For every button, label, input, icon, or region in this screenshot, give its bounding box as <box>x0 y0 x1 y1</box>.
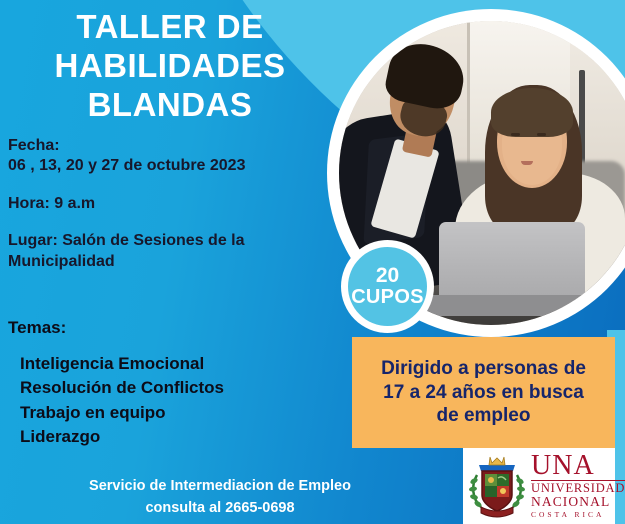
headline-line-2: HABILIDADES <box>10 47 330 86</box>
footer-contact: Servicio de Intermediacion de Empleo con… <box>0 476 440 520</box>
callout-line-1: Dirigido a personas de <box>381 357 586 381</box>
topics-section: Temas: Inteligencia Emocional Resolución… <box>8 318 338 450</box>
topic-item: Trabajo en equipo <box>20 401 338 425</box>
cupos-label: CUPOS <box>351 287 424 308</box>
audience-callout-text: Dirigido a personas de 17 a 24 años en b… <box>371 357 596 428</box>
woman-hair-front <box>491 88 573 137</box>
date-group: Fecha: 06 , 13, 20 y 27 de octubre 2023 <box>8 136 330 177</box>
date-value: 06 , 13, 20 y 27 de octubre 2023 <box>8 156 330 176</box>
cupos-number: 20 <box>376 265 399 287</box>
audience-callout: Dirigido a personas de 17 a 24 años en b… <box>352 337 615 448</box>
una-acronym: UNA <box>531 453 625 480</box>
municipal-coat-of-arms-icon <box>467 451 527 521</box>
place-line-1: Lugar: Salón de Sesiones de la <box>8 231 330 251</box>
laptop-base <box>427 295 600 316</box>
footer-line-1: Servicio de Intermediacion de Empleo <box>0 476 440 498</box>
una-costa-rica: COSTA RICA <box>531 510 625 519</box>
headline-line-3: BLANDAS <box>10 86 330 125</box>
footer-line-2: consulta al 2665-0698 <box>0 498 440 520</box>
callout-line-2: 17 a 24 años en busca <box>381 381 586 405</box>
time-value: Hora: 9 a.m <box>8 194 330 214</box>
event-details: Fecha: 06 , 13, 20 y 27 de octubre 2023 … <box>8 136 330 272</box>
una-nacional: NACIONAL <box>531 495 625 509</box>
topic-item: Resolución de Conflictos <box>20 376 338 400</box>
topics-title: Temas: <box>8 318 338 338</box>
cupos-badge-inner: 20 CUPOS <box>348 247 427 326</box>
poster-headline: TALLER DE HABILIDADES BLANDAS <box>10 8 330 125</box>
cupos-badge: 20 CUPOS <box>341 240 434 333</box>
topic-item: Inteligencia Emocional <box>20 352 338 376</box>
laptop-screen <box>439 222 585 301</box>
place-group: Lugar: Salón de Sesiones de la Municipal… <box>8 231 330 272</box>
headline-line-1: TALLER DE <box>10 8 330 47</box>
topics-list: Inteligencia Emocional Resolución de Con… <box>8 352 338 450</box>
logo-strip: UNA UNIVERSIDAD NACIONAL COSTA RICA <box>463 448 615 524</box>
poster-canvas: TALLER DE HABILIDADES BLANDAS Fecha: 06 … <box>0 0 625 524</box>
time-group: Hora: 9 a.m <box>8 194 330 214</box>
place-line-2: Municipalidad <box>8 252 330 272</box>
callout-line-3: de empleo <box>381 404 586 428</box>
date-label: Fecha: <box>8 136 330 156</box>
topic-item: Liderazgo <box>20 425 338 449</box>
una-wordmark: UNA UNIVERSIDAD NACIONAL COSTA RICA <box>531 453 625 520</box>
